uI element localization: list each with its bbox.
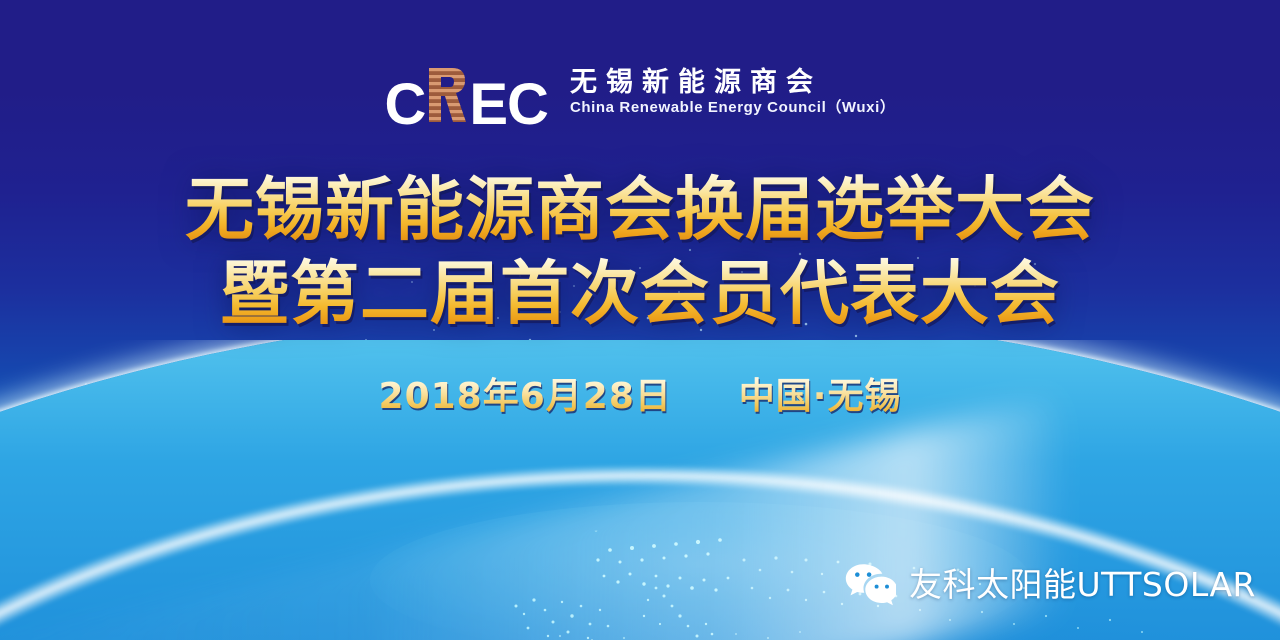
crec-acronym: C [384, 63, 547, 134]
event-banner: C [0, 0, 1280, 640]
event-date: 2018年6月28日 [379, 376, 672, 417]
crec-logo-wordmark: 无锡新能源商会 China Renewable Energy Council（W… [570, 63, 896, 117]
crec-name-cn: 无锡新能源商会 [570, 68, 896, 97]
wechat-watermark: 友科太阳能UTTSOLAR [844, 562, 1256, 606]
crec-logo: C [0, 63, 1280, 134]
event-title-line-1: 无锡新能源商会换届选举大会 [0, 168, 1280, 252]
event-title: 无锡新能源商会换届选举大会 暨第二届首次会员代表大会 [0, 168, 1280, 336]
wechat-account-name: 友科太阳能UTTSOLAR [909, 568, 1256, 601]
event-location: 中国·无锡 [739, 376, 902, 417]
crec-letter-r-solar-icon [426, 66, 468, 124]
crec-name-en: China Renewable Energy Council（Wuxi） [570, 100, 896, 117]
crec-letter-c: C [384, 76, 425, 134]
event-title-line-2: 暨第二届首次会员代表大会 [0, 252, 1280, 336]
crec-letters-ec: EC [469, 76, 548, 134]
event-meta: 2018年6月28日 中国·无锡 [0, 375, 1280, 419]
wechat-icon [844, 562, 896, 606]
